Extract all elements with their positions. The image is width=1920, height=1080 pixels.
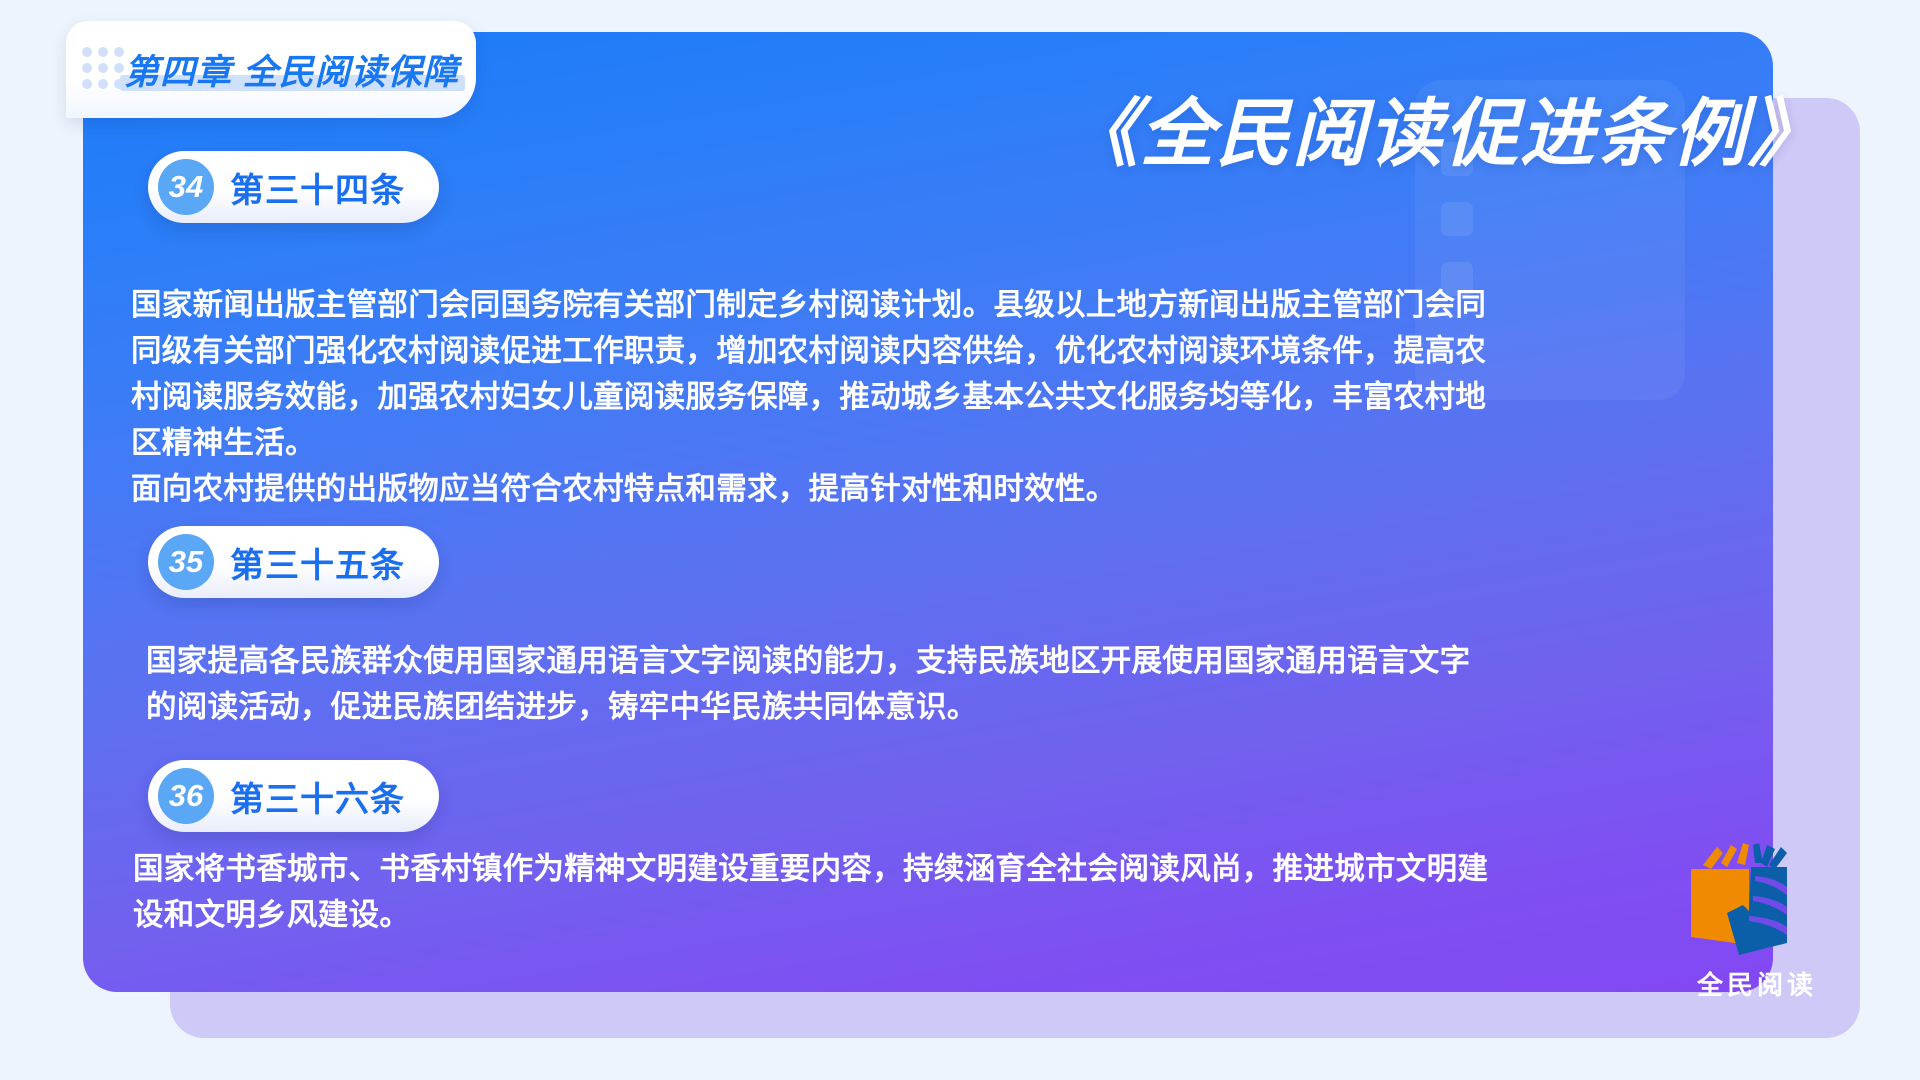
- infographic-poster: 第四章 全民阅读保障 《全民阅读促进条例》 34 第三十四条 国家新闻出版主管部…: [0, 0, 1920, 1080]
- article-number-34: 34: [158, 159, 214, 215]
- watermark-bar: [1441, 202, 1473, 236]
- article-body-34: 国家新闻出版主管部门会同国务院有关部门制定乡村阅读计划。县级以上地方新闻出版主管…: [131, 282, 1491, 512]
- dot-grid-icon: [82, 47, 116, 93]
- reading-logo: 全民阅读: [1682, 843, 1832, 1002]
- open-book-icon: [1687, 843, 1827, 955]
- logo-caption: 全民阅读: [1697, 965, 1817, 1002]
- chapter-title: 第四章 全民阅读保障: [124, 53, 459, 92]
- article-badge-36: 36 第三十六条: [148, 760, 439, 832]
- article-label-35: 第三十五条: [230, 538, 405, 587]
- article-label-36: 第三十六条: [230, 772, 405, 821]
- article-badge-34: 34 第三十四条: [148, 151, 439, 223]
- article-number-36: 36: [158, 768, 214, 824]
- article-badge-35: 35 第三十五条: [148, 526, 439, 598]
- article-body-35: 国家提高各民族群众使用国家通用语言文字阅读的能力，支持民族地区开展使用国家通用语…: [146, 638, 1486, 730]
- article-body-36: 国家将书香城市、书香村镇作为精神文明建设重要内容，持续涵育全社会阅读风尚，推进城…: [133, 846, 1493, 938]
- chapter-tab: 第四章 全民阅读保障: [66, 21, 476, 118]
- article-number-35: 35: [158, 534, 214, 590]
- chapter-title-wrap: 第四章 全民阅读保障: [124, 44, 459, 95]
- article-label-34: 第三十四条: [230, 163, 405, 212]
- page-title: 《全民阅读促进条例》: [1064, 74, 1824, 181]
